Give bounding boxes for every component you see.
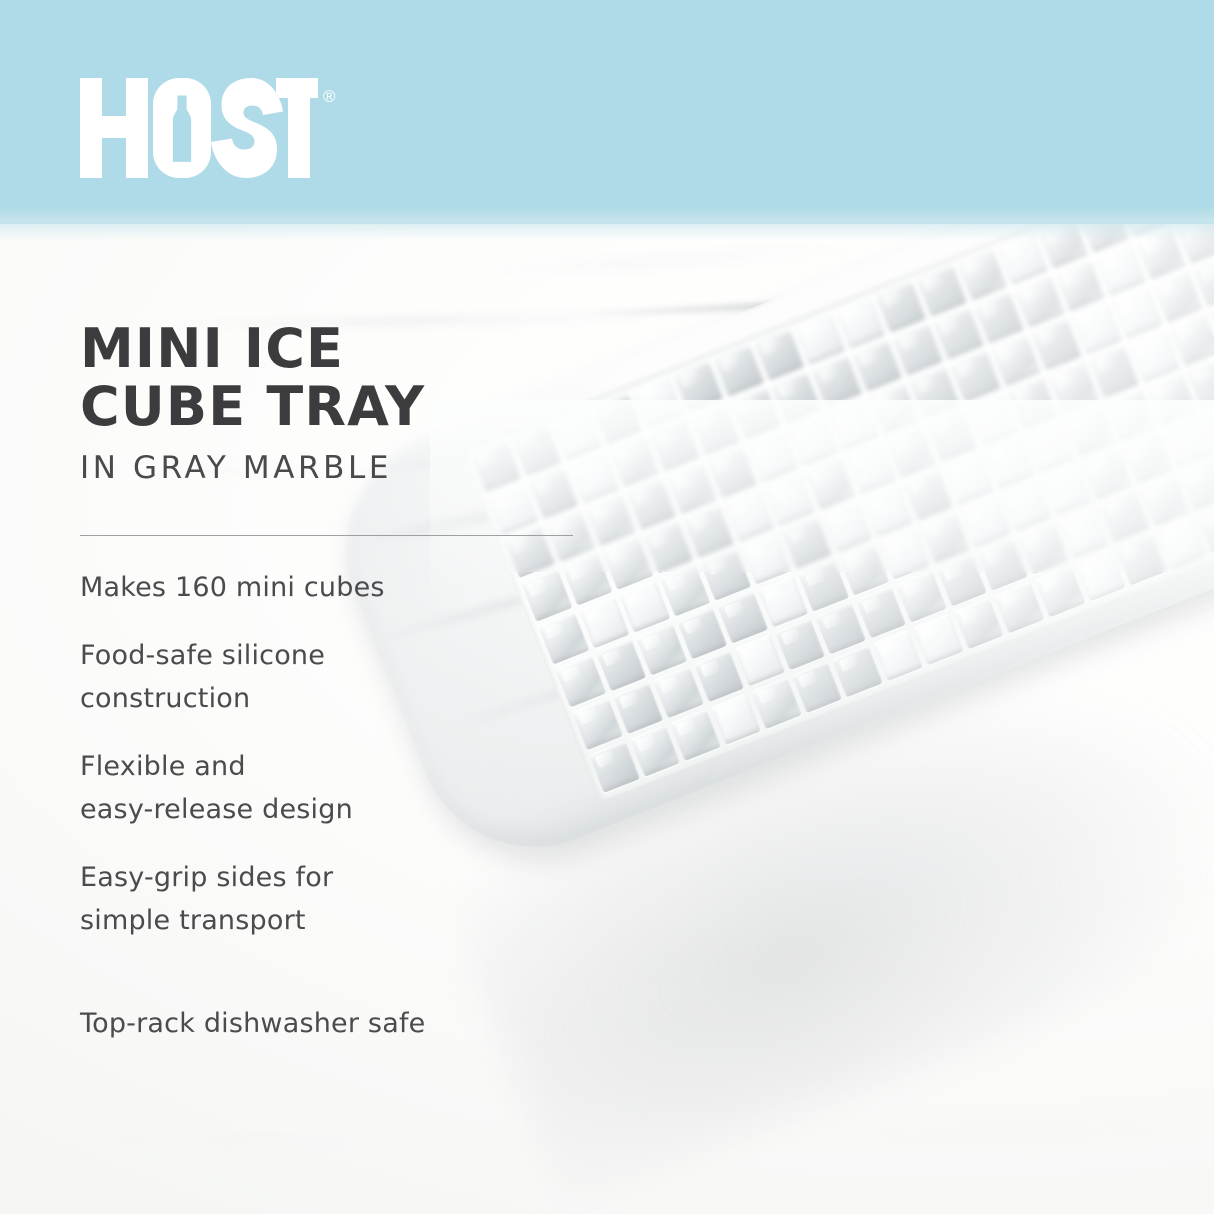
product-title: MINI ICE CUBE TRAY <box>80 320 640 436</box>
feature-item: Makes 160 mini cubes <box>80 566 600 609</box>
product-marketing-card: ® MINI ICE CUBE TRAY IN GRAY MARBLE Make… <box>0 0 1214 1214</box>
host-wordmark <box>80 78 318 178</box>
feature-item: Food-safe silicone construction <box>80 634 600 720</box>
host-logo: ® <box>80 78 336 178</box>
headline-block: MINI ICE CUBE TRAY IN GRAY MARBLE <box>80 320 640 488</box>
feature-item: Easy-grip sides for simple transport <box>80 856 600 942</box>
product-subtitle: IN GRAY MARBLE <box>80 448 640 488</box>
registered-trademark-symbol: ® <box>323 88 336 105</box>
feature-item: Flexible and easy-release design <box>80 745 600 831</box>
feature-list: Makes 160 mini cubes Food-safe silicone … <box>80 566 600 1045</box>
feature-item: Top-rack dishwasher safe <box>80 1002 600 1045</box>
section-divider <box>80 535 573 536</box>
